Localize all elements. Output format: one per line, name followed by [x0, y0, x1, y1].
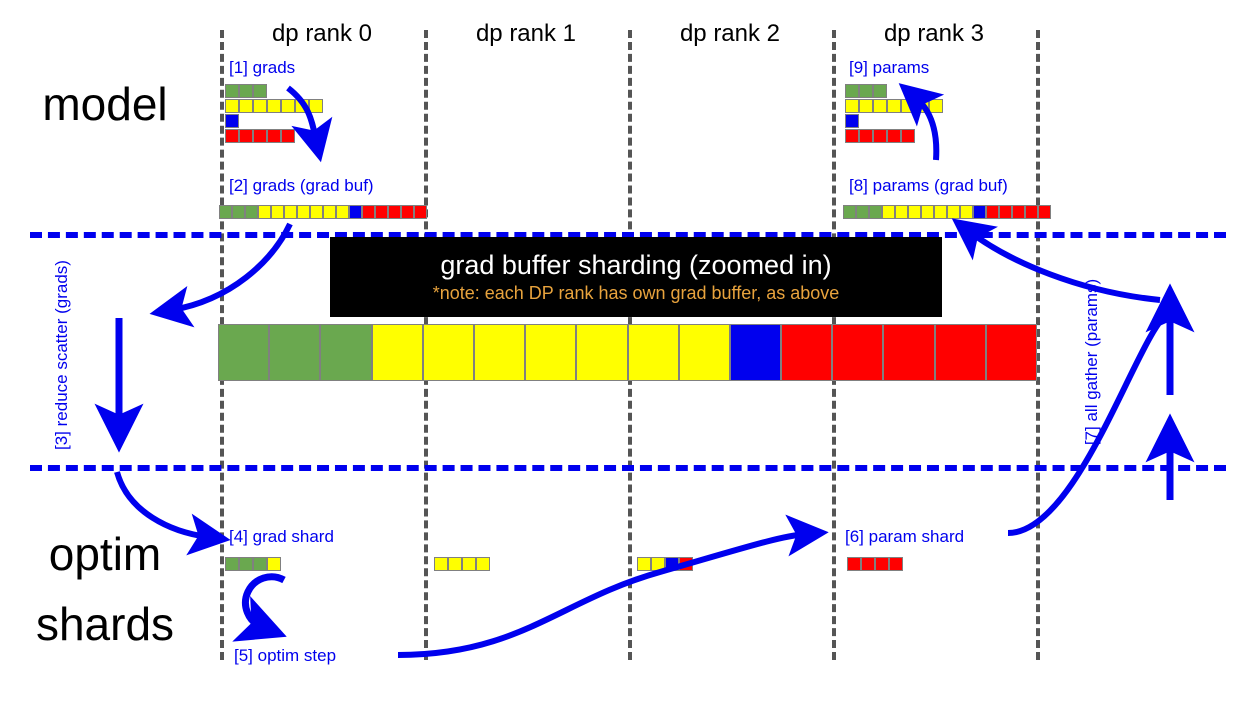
buffer-cell-green	[239, 84, 253, 98]
buffer-cell-red	[225, 129, 239, 143]
buffer-cell-red	[679, 557, 693, 571]
buffer-cell-green	[253, 84, 267, 98]
buffer-cell-red	[281, 129, 295, 143]
step-label-5: [5] optim step	[234, 646, 336, 666]
buffer-cell-yellow	[947, 205, 960, 219]
buffer-cell-red	[873, 129, 887, 143]
step-label-3-line3: (grads)	[52, 260, 71, 314]
arrow-allgather-to-parambuf	[970, 232, 1160, 300]
buffer-cell-yellow	[637, 557, 651, 571]
param-tensor-row-blue	[845, 114, 859, 128]
buffer-cell-red	[861, 557, 875, 571]
step-label-3: [3] reduce scatter (grads)	[52, 270, 72, 450]
param-tensor-row-yellow	[845, 99, 943, 113]
buffer-cell-yellow	[267, 557, 281, 571]
buffer-cell-yellow	[297, 205, 310, 219]
buffer-cell-red	[781, 324, 832, 381]
buffer-cell-red	[986, 324, 1037, 381]
buffer-cell-green	[253, 557, 267, 571]
buffer-cell-red	[999, 205, 1012, 219]
buffer-cell-green	[269, 324, 320, 381]
buffer-cell-yellow	[434, 557, 448, 571]
buffer-cell-green	[225, 84, 239, 98]
buffer-cell-yellow	[295, 99, 309, 113]
grad-buffer-rank0	[219, 205, 427, 219]
buffer-cell-red	[875, 557, 889, 571]
buffer-cell-yellow	[901, 99, 915, 113]
step-label-7-line1: [7]	[1082, 426, 1101, 445]
buffer-cell-blue	[845, 114, 859, 128]
model-tensor-row-green	[225, 84, 267, 98]
arrow-optim-step-loop	[245, 577, 284, 627]
buffer-cell-red	[414, 205, 427, 219]
step-label-2: [2] grads (grad buf)	[229, 176, 374, 196]
buffer-cell-yellow	[845, 99, 859, 113]
buffer-cell-yellow	[859, 99, 873, 113]
buffer-cell-red	[401, 205, 414, 219]
buffer-cell-blue	[225, 114, 239, 128]
buffer-cell-yellow	[309, 99, 323, 113]
buffer-cell-red	[267, 129, 281, 143]
buffer-cell-red	[1025, 205, 1038, 219]
buffer-cell-yellow	[908, 205, 921, 219]
step-label-9: [9] params	[849, 58, 929, 78]
buffer-cell-yellow	[253, 99, 267, 113]
buffer-cell-red	[388, 205, 401, 219]
model-tensor-row-red	[225, 129, 295, 143]
step-label-7-line2: all gather	[1082, 352, 1101, 422]
buffer-cell-blue	[730, 324, 781, 381]
step-label-3-line2: reduce scatter	[52, 319, 71, 427]
buffer-cell-yellow	[651, 557, 665, 571]
buffer-cell-red	[847, 557, 861, 571]
buffer-cell-yellow	[462, 557, 476, 571]
buffer-cell-yellow	[310, 205, 323, 219]
rank-header-0: dp rank 0	[220, 20, 424, 48]
buffer-cell-red	[889, 557, 903, 571]
buffer-cell-yellow	[882, 205, 895, 219]
diagram-canvas: dp rank 0 dp rank 1 dp rank 2 dp rank 3 …	[0, 0, 1256, 706]
zoomed-grad-buffer	[218, 324, 1037, 381]
buffer-cell-green	[845, 84, 859, 98]
buffer-cell-green	[869, 205, 882, 219]
buffer-cell-red	[887, 129, 901, 143]
buffer-cell-yellow	[915, 99, 929, 113]
buffer-cell-yellow	[281, 99, 295, 113]
zoom-banner: grad buffer sharding (zoomed in) *note: …	[330, 237, 942, 317]
buffer-cell-green	[239, 557, 253, 571]
buffer-cell-red	[253, 129, 267, 143]
buffer-cell-yellow	[474, 324, 525, 381]
buffer-cell-green	[219, 205, 232, 219]
optim-caption-line2: shards	[0, 598, 210, 650]
buffer-cell-red	[859, 129, 873, 143]
buffer-cell-yellow	[895, 205, 908, 219]
buffer-cell-red	[1038, 205, 1051, 219]
buffer-cell-green	[320, 324, 371, 381]
step-label-7-line3: (params)	[1082, 279, 1101, 347]
optim-boundary-line	[30, 465, 1226, 471]
buffer-cell-yellow	[887, 99, 901, 113]
buffer-cell-blue	[665, 557, 679, 571]
buffer-cell-yellow	[679, 324, 730, 381]
buffer-cell-red	[362, 205, 375, 219]
param-tensor-row-green	[845, 84, 887, 98]
buffer-cell-red	[1012, 205, 1025, 219]
model-tensor-row-blue	[225, 114, 239, 128]
buffer-cell-green	[873, 84, 887, 98]
model-tensor-row-yellow	[225, 99, 323, 113]
buffer-cell-yellow	[267, 99, 281, 113]
step-label-6: [6] param shard	[845, 527, 964, 547]
zoom-banner-note: *note: each DP rank has own grad buffer,…	[433, 281, 840, 305]
param-buffer-rank3	[843, 205, 1051, 219]
buffer-cell-red	[901, 129, 915, 143]
buffer-cell-yellow	[239, 99, 253, 113]
buffer-cell-red	[832, 324, 883, 381]
step-label-4: [4] grad shard	[229, 527, 334, 547]
buffer-cell-yellow	[448, 557, 462, 571]
optim-shard-rank1	[434, 557, 490, 571]
buffer-cell-green	[232, 205, 245, 219]
buffer-cell-yellow	[423, 324, 474, 381]
buffer-cell-green	[859, 84, 873, 98]
buffer-cell-red	[239, 129, 253, 143]
model-caption: model	[0, 78, 210, 130]
buffer-cell-red	[375, 205, 388, 219]
buffer-cell-yellow	[921, 205, 934, 219]
step-label-8: [8] params (grad buf)	[849, 176, 1008, 196]
buffer-cell-yellow	[929, 99, 943, 113]
buffer-cell-yellow	[271, 205, 284, 219]
param-tensor-row-red	[845, 129, 915, 143]
buffer-cell-yellow	[934, 205, 947, 219]
buffer-cell-blue	[973, 205, 986, 219]
buffer-cell-yellow	[372, 324, 423, 381]
buffer-cell-yellow	[323, 205, 336, 219]
buffer-cell-red	[883, 324, 934, 381]
buffer-cell-yellow	[960, 205, 973, 219]
rank-header-3: dp rank 3	[832, 20, 1036, 48]
buffer-cell-yellow	[576, 324, 627, 381]
buffer-cell-yellow	[225, 99, 239, 113]
rank-header-2: dp rank 2	[628, 20, 832, 48]
optim-shard-rank2	[637, 557, 693, 571]
buffer-cell-blue	[349, 205, 362, 219]
buffer-cell-yellow	[525, 324, 576, 381]
buffer-cell-green	[225, 557, 239, 571]
rank-header-1: dp rank 1	[424, 20, 628, 48]
step-label-1: [1] grads	[229, 58, 295, 78]
buffer-cell-red	[986, 205, 999, 219]
step-label-7: [7] all gather (params)	[1082, 272, 1102, 452]
buffer-cell-yellow	[628, 324, 679, 381]
step-label-3-line1: [3]	[52, 431, 71, 450]
optim-shard-rank3	[847, 557, 903, 571]
buffer-cell-red	[845, 129, 859, 143]
buffer-cell-yellow	[284, 205, 297, 219]
buffer-cell-green	[843, 205, 856, 219]
zoom-banner-title: grad buffer sharding (zoomed in)	[440, 249, 831, 281]
buffer-cell-yellow	[476, 557, 490, 571]
optim-shard-rank0	[225, 557, 281, 571]
buffer-cell-red	[935, 324, 986, 381]
arrow-optim-step-to-param-shard	[398, 534, 806, 655]
optim-caption-line1: optim	[0, 528, 210, 580]
buffer-cell-yellow	[336, 205, 349, 219]
buffer-cell-yellow	[258, 205, 271, 219]
buffer-cell-green	[245, 205, 258, 219]
buffer-cell-green	[218, 324, 269, 381]
buffer-cell-yellow	[873, 99, 887, 113]
buffer-cell-green	[856, 205, 869, 219]
